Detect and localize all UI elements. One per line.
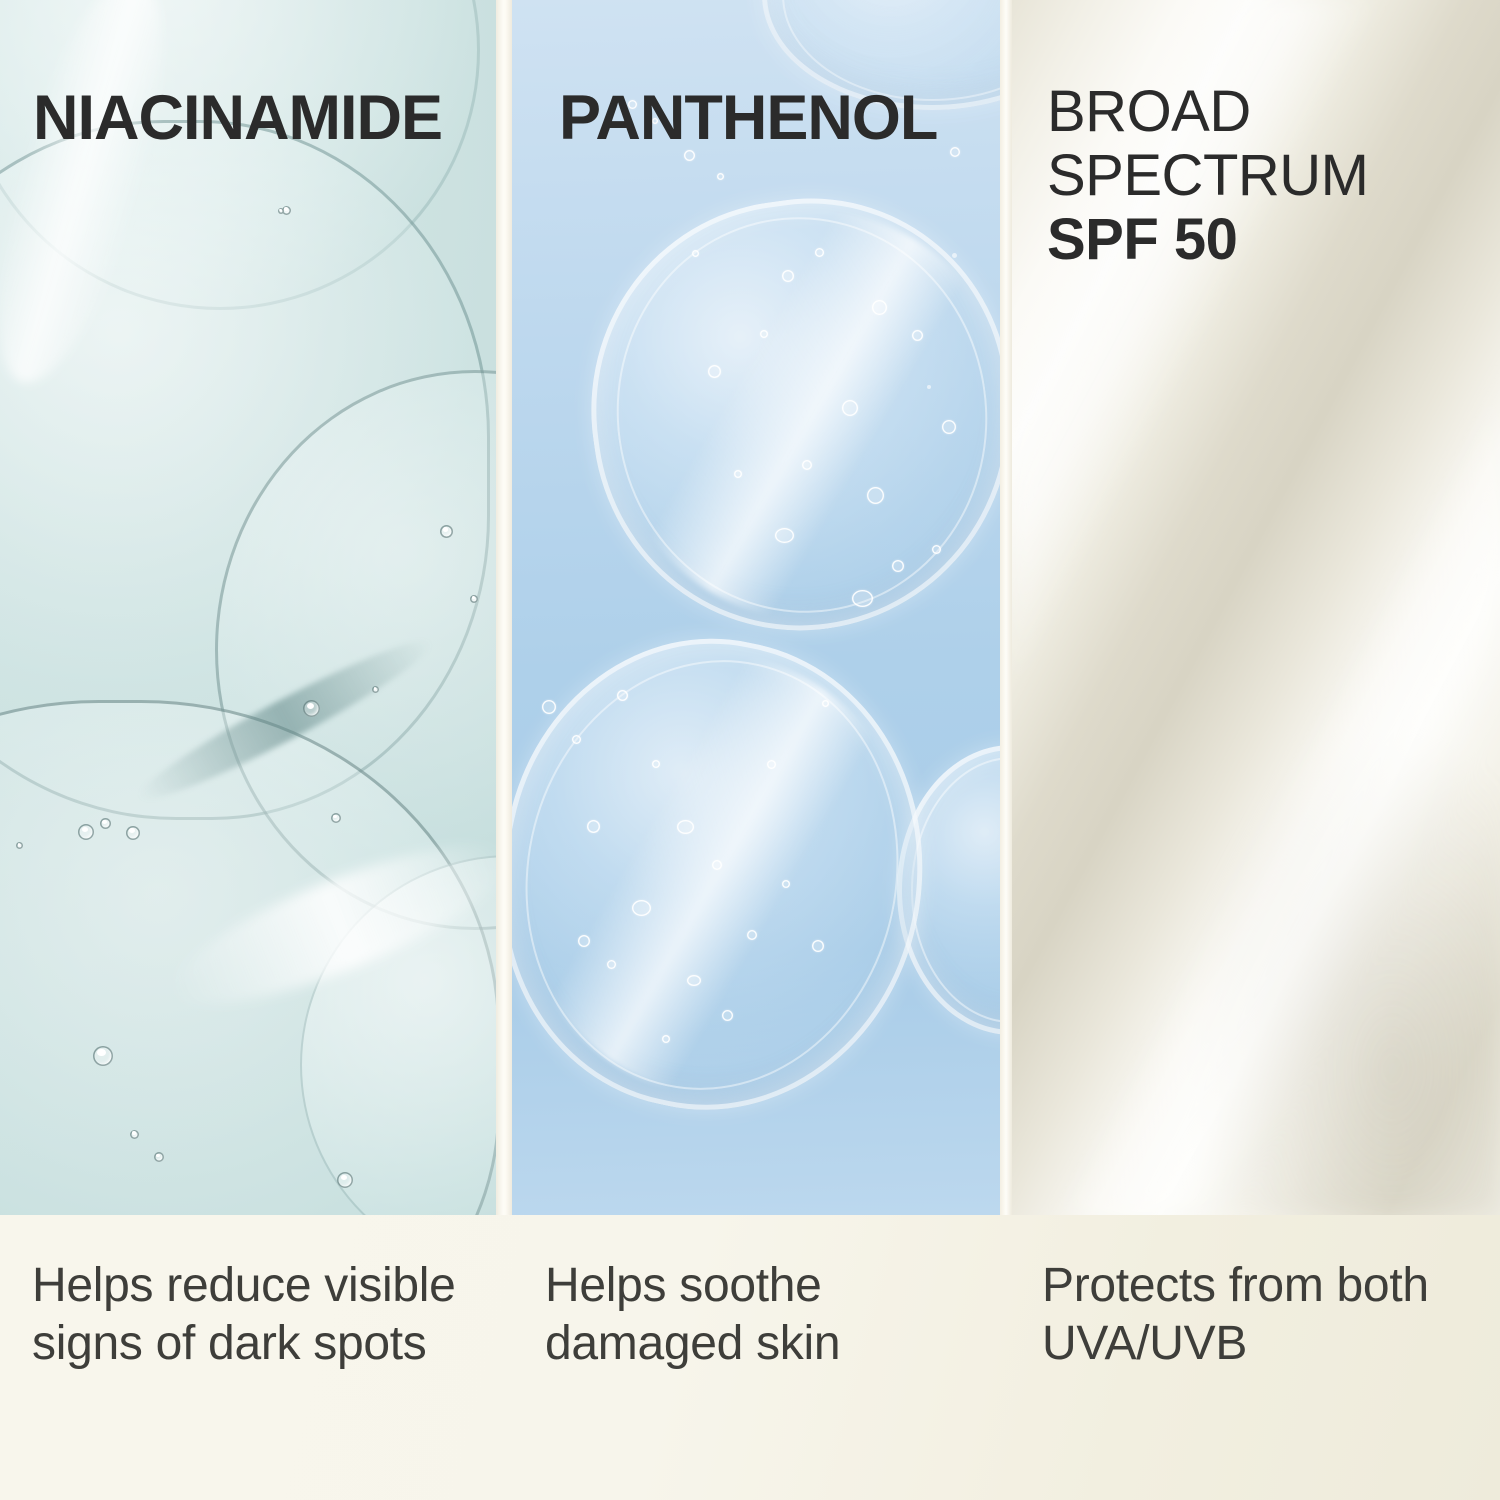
air-bubble [93,1046,113,1066]
air-bubble [734,470,742,478]
panel-heading-panthenol: PANTHENOL [559,82,937,154]
air-bubble [812,940,824,952]
air-bubble [815,248,824,257]
air-bubble [607,960,616,969]
panel-panthenol: PANTHENOL [512,0,1000,1215]
air-bubble [842,400,858,416]
air-bubble [952,253,957,258]
panel-divider [496,0,512,1215]
panel-divider [1000,0,1012,1215]
air-bubble [912,330,923,341]
air-bubble [717,173,724,180]
air-bubble [747,930,757,940]
air-bubble [632,900,651,916]
heading-line-spf50: SPF 50 [1047,208,1368,272]
product-benefits-infographic: NIACINAMIDE [0,0,1500,1500]
heading-line-broad: BROAD [1047,80,1368,144]
air-bubble [782,880,790,888]
air-bubble [822,700,829,707]
air-bubble [126,826,140,840]
air-bubble [130,1130,139,1139]
air-bubble [872,300,887,315]
air-bubble [78,824,94,840]
air-bubble [852,590,873,607]
air-bubble [767,760,776,769]
air-bubble [775,528,794,543]
air-bubble [692,250,699,257]
air-bubble [708,365,721,378]
air-bubble [802,460,812,470]
air-bubble [572,735,581,744]
panel-broad-spectrum-spf: BROAD SPECTRUM SPF 50 [1012,0,1500,1215]
air-bubble [303,700,320,717]
air-bubble [440,525,453,538]
air-bubble [100,818,111,829]
air-bubble [867,487,884,504]
air-bubble [331,813,341,823]
air-bubble [154,1152,164,1162]
air-bubble [712,860,722,870]
caption-bar: Helps reduce visible signs of dark spots… [0,1215,1500,1500]
air-bubble [372,686,379,693]
air-bubble [470,595,478,603]
air-bubble [652,760,660,768]
heading-line-spectrum: SPECTRUM [1047,144,1368,208]
panel-heading-niacinamide: NIACINAMIDE [33,82,442,154]
caption-niacinamide: Helps reduce visible signs of dark spots [32,1257,462,1373]
air-bubble [278,208,284,214]
air-bubble [587,820,600,833]
caption-panthenol: Helps soothe damaged skin [545,1257,975,1373]
air-bubble [927,385,931,389]
air-bubble [578,935,590,947]
caption-broad-spectrum: Protects from both UVA/UVB [1042,1257,1472,1373]
panel-niacinamide: NIACINAMIDE [0,0,496,1215]
air-bubble [932,545,941,554]
air-bubble [950,147,960,157]
air-bubble [760,330,768,338]
panel-strip: NIACINAMIDE [0,0,1500,1215]
air-bubble [617,690,628,701]
panel-heading-broad-spectrum: BROAD SPECTRUM SPF 50 [1047,80,1368,272]
air-bubble [662,1035,670,1043]
air-bubble [892,560,904,572]
air-bubble [16,842,23,849]
air-bubble [942,420,956,434]
air-bubble [687,975,701,986]
air-bubble [677,820,694,834]
air-bubble [542,700,556,714]
air-bubble [722,1010,733,1021]
air-bubble [337,1172,353,1188]
air-bubble [782,270,794,282]
